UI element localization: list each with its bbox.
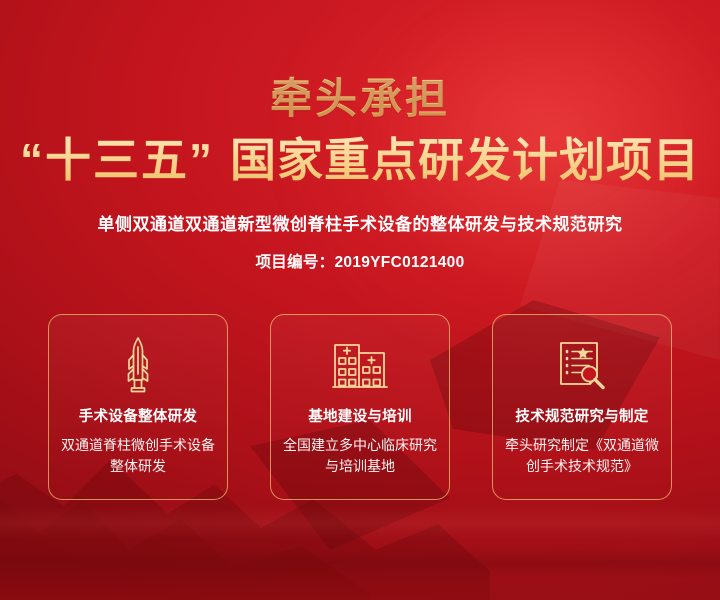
- background-band-2: [0, 548, 720, 578]
- card-list: 手术设备整体研发 双通道脊柱微创手术设备整体研发: [48, 272, 672, 500]
- hospital-building-icon: [332, 337, 388, 393]
- card-item[interactable]: 技术规范研究与制定 牵头研究制定《双通道微创手术技术规范》: [492, 314, 672, 500]
- card-description: 全国建立多中心临床研究与培训基地: [271, 435, 449, 476]
- poster-content: 牵头承担 “十三五”国家重点研发计划项目 单侧双通道双通道新型微创脊柱手术设备的…: [0, 0, 720, 500]
- background-band-1: [0, 506, 720, 540]
- project-number: 项目编号：2019YFC0121400: [0, 235, 720, 272]
- card-description: 牵头研究制定《双通道微创手术技术规范》: [493, 435, 671, 476]
- rocket-icon: [121, 337, 155, 393]
- card-description: 双通道脊柱微创手术设备整体研发: [49, 435, 227, 476]
- card-title: 基地建设与培训: [308, 405, 412, 426]
- card-item[interactable]: 基地建设与培训 全国建立多中心临床研究与培训基地: [270, 314, 450, 500]
- headline-quoted-term: “十三五”: [20, 134, 214, 186]
- background-band-3: [0, 575, 720, 600]
- headline-program-name: 国家重点研发计划项目: [230, 134, 700, 186]
- card-title: 手术设备整体研发: [79, 405, 197, 426]
- poster-root: 牵头承担 “十三五”国家重点研发计划项目 单侧双通道双通道新型微创脊柱手术设备的…: [0, 0, 720, 600]
- card-item[interactable]: 手术设备整体研发 双通道脊柱微创手术设备整体研发: [48, 314, 228, 500]
- document-magnifier-icon: [556, 337, 608, 393]
- card-title: 技术规范研究与制定: [515, 405, 648, 426]
- project-subtitle: 单侧双通道双通道新型微创脊柱手术设备的整体研发与技术规范研究: [0, 184, 720, 235]
- headline-primary: 牵头承担: [0, 0, 720, 120]
- headline-secondary: “十三五”国家重点研发计划项目: [0, 120, 720, 184]
